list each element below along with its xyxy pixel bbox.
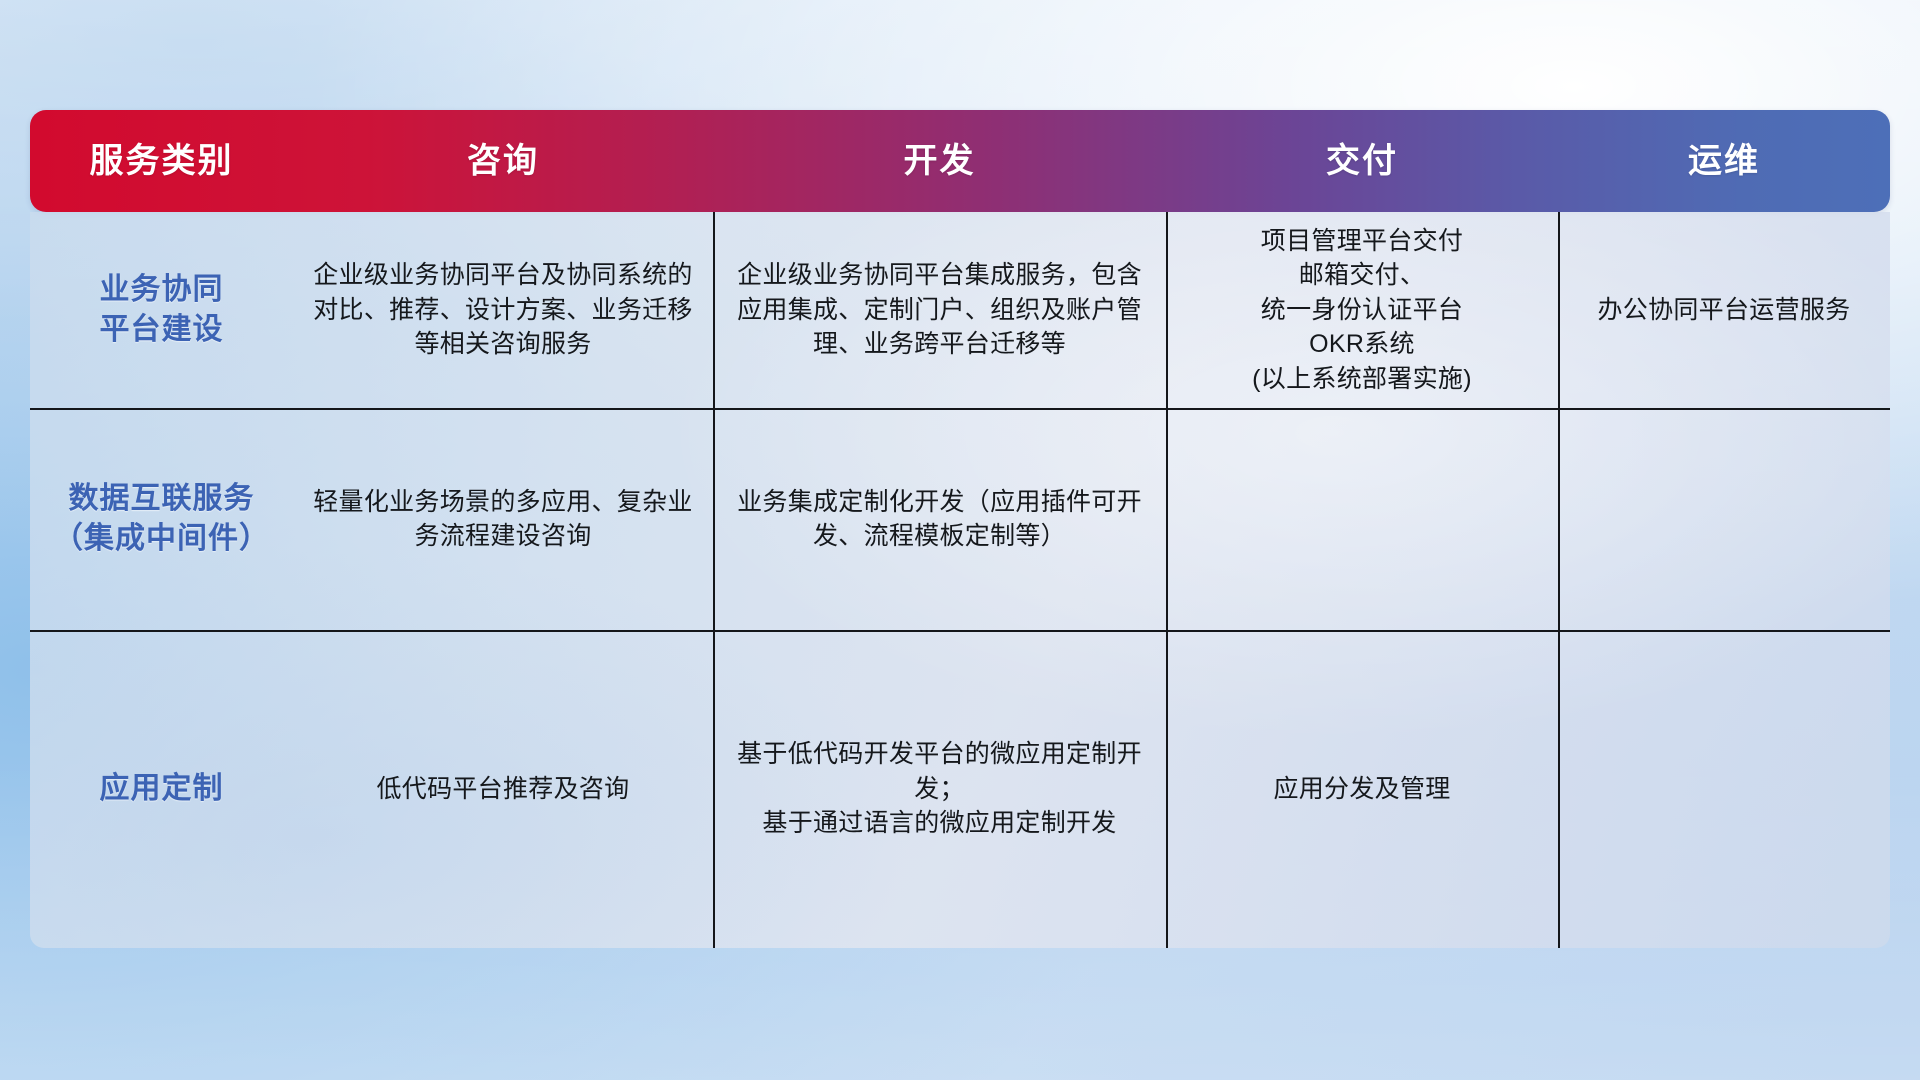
column-header-operations: 运维 (1558, 144, 1890, 178)
cell-development: 业务集成定制化开发（应用插件可开发、流程模板定制等） (713, 408, 1166, 630)
cell-text: 轻量化业务场景的多应用、复杂业务流程建设咨询 (309, 485, 697, 554)
cell-text: 低代码平台推荐及咨询 (376, 772, 629, 807)
table-row: 数据互联服务（集成中间件） 轻量化业务场景的多应用、复杂业务流程建设咨询 业务集… (30, 408, 1890, 630)
service-matrix-table: 服务类别 咨询 开发 交付 运维 业务协同平台建设 企业级业务协同平台及协同系统… (30, 110, 1890, 948)
category-label: 业务协同平台建设 (100, 270, 224, 349)
cell-text: 企业级业务协同平台及协同系统的对比、推荐、设计方案、业务迁移等相关咨询服务 (309, 258, 697, 362)
cell-category: 应用定制 (30, 630, 293, 948)
cell-delivery (1166, 408, 1558, 630)
category-label: 应用定制 (100, 769, 224, 809)
cell-operations: 办公协同平台运营服务 (1558, 212, 1890, 408)
category-label: 数据互联服务（集成中间件） (53, 479, 270, 558)
column-header-consulting: 咨询 (293, 144, 713, 178)
column-header-delivery: 交付 (1166, 144, 1558, 178)
column-header-category: 服务类别 (30, 144, 293, 178)
table-row: 应用定制 低代码平台推荐及咨询 基于低代码开发平台的微应用定制开发；基于通过语言… (30, 630, 1890, 948)
cell-text: 企业级业务协同平台集成服务，包含应用集成、定制门户、组织及账户管理、业务跨平台迁… (729, 258, 1150, 362)
cell-development: 企业级业务协同平台集成服务，包含应用集成、定制门户、组织及账户管理、业务跨平台迁… (713, 212, 1166, 408)
cell-text: 业务集成定制化开发（应用插件可开发、流程模板定制等） (729, 485, 1150, 554)
cell-delivery: 应用分发及管理 (1166, 630, 1558, 948)
cell-text: 基于低代码开发平台的微应用定制开发；基于通过语言的微应用定制开发 (729, 737, 1150, 841)
cell-consulting: 轻量化业务场景的多应用、复杂业务流程建设咨询 (293, 408, 713, 630)
table-body: 业务协同平台建设 企业级业务协同平台及协同系统的对比、推荐、设计方案、业务迁移等… (30, 212, 1890, 948)
cell-text: 办公协同平台运营服务 (1597, 293, 1850, 328)
cell-operations (1558, 408, 1890, 630)
cell-text: 应用分发及管理 (1273, 772, 1450, 807)
table-row: 业务协同平台建设 企业级业务协同平台及协同系统的对比、推荐、设计方案、业务迁移等… (30, 212, 1890, 408)
cell-text: 项目管理平台交付邮箱交付、统一身份认证平台OKR系统(以上系统部署实施) (1252, 224, 1472, 397)
cell-operations (1558, 630, 1890, 948)
cell-development: 基于低代码开发平台的微应用定制开发；基于通过语言的微应用定制开发 (713, 630, 1166, 948)
cell-delivery: 项目管理平台交付邮箱交付、统一身份认证平台OKR系统(以上系统部署实施) (1166, 212, 1558, 408)
table-header-row: 服务类别 咨询 开发 交付 运维 (30, 110, 1890, 212)
cell-consulting: 企业级业务协同平台及协同系统的对比、推荐、设计方案、业务迁移等相关咨询服务 (293, 212, 713, 408)
cell-category: 数据互联服务（集成中间件） (30, 408, 293, 630)
cell-category: 业务协同平台建设 (30, 212, 293, 408)
cell-consulting: 低代码平台推荐及咨询 (293, 630, 713, 948)
column-header-development: 开发 (713, 144, 1166, 178)
